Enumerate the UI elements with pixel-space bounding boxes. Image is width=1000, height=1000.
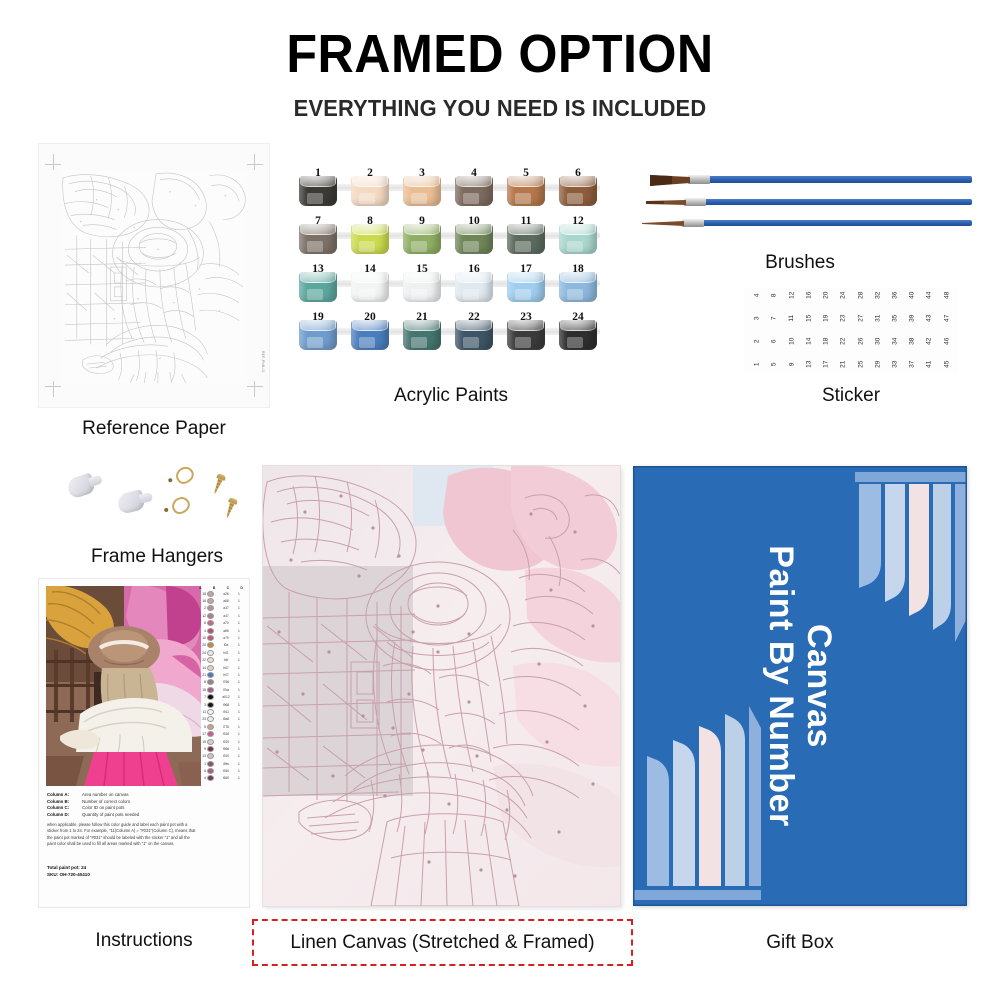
legend-color-swatch [207,709,214,715]
instructions-column-text: Color ID on paint pots [82,805,124,810]
legend-color-swatch [207,598,214,604]
paint-pot-number: 16 [452,263,496,275]
legend-color-swatch [207,672,214,678]
sticker-column: 16151413 [802,292,818,368]
sticker-column: 48474645 [939,292,955,368]
gift-box-title: Canvas Paint By Number [762,545,838,826]
legend-area-number: 12 [199,614,206,618]
legend-area-number: 6 [199,621,206,625]
paint-pot-8: 8 [348,213,392,257]
legend-quantity: 1 [238,776,243,780]
caption-gift-box: Gift Box [633,932,967,954]
legend-row: 8i7661 [198,679,244,686]
legend-color-id: i660 [215,776,237,780]
legend-row: 1i5fw1 [198,760,244,767]
legend-quantity: 1 [238,688,243,692]
legend-row: 9i9661 [198,745,244,752]
legend-quantity: 1 [238,621,243,625]
paint-pot-number: 1 [296,167,340,179]
legend-area-number: 4 [199,629,206,633]
legend-quantity: 1 [238,651,243,655]
legend-color-swatch [207,665,214,671]
legend-area-number: 8 [199,680,206,684]
sticker-number: 10 [789,338,796,345]
instructions-sheet-image: A B C D 18a26116a8812a37112a4716a7014a86… [38,578,250,908]
legend-area-number: 16 [199,599,206,603]
legend-quantity: 1 [238,725,243,729]
sticker-column: 1211109 [784,292,800,368]
legend-area-number: 23 [199,717,206,721]
legend-area-number: 5 [199,725,206,729]
paint-pot-number: 22 [452,311,496,323]
legend-quantity: 1 [238,614,243,618]
paint-pot-11: 11 [504,213,548,257]
legend-row: 6i9401 [198,767,244,774]
paint-pot-20: 20 [348,309,392,353]
legend-color-swatch [207,679,214,685]
legend-color-swatch [207,687,214,693]
legend-color-id: a86 [215,629,237,633]
sticker-number: 40 [910,292,917,299]
paint-pot-18: 18 [556,261,600,305]
legend-row: 10a791 [198,634,244,641]
paint-pot-number: 8 [348,215,392,227]
instructions-totals: Total paint pot: 24 SKU: OH-720-40410 [47,865,199,879]
legend-quantity: 1 [238,658,243,662]
total-paint-pot: Total paint pot: 24 [47,865,199,870]
legend-row: 16a881 [198,597,244,604]
legend-color-id: i968 [215,703,237,707]
sticker-number: 5 [772,363,779,367]
legend-color-id: a012 [215,695,237,699]
screw [211,473,227,495]
legend-color-id: h67 [215,666,237,670]
sticker-number: 33 [892,361,899,368]
paint-pot-number: 6 [556,167,600,179]
sticker-number: 43 [927,315,934,322]
paint-pot-row: 123456 [296,165,606,211]
legend-header-c: C [227,586,230,590]
caption-acrylic-paints: Acrylic Paints [296,385,606,407]
legend-area-number: 4 [199,776,206,780]
legend-quantity: 1 [238,599,243,603]
sticker-number: 11 [789,315,796,322]
legend-area-number: 14 [199,666,206,670]
legend-color-id: i966 [215,747,237,751]
gift-box-image: Canvas Paint By Number [633,466,967,906]
legend-row: 7a0121 [198,693,244,700]
instructions-preview-art [46,586,201,786]
sticker-number: 48 [944,292,951,299]
legend-row: 4i6601 [198,775,244,782]
legend-area-number: 9 [199,747,206,751]
caption-sticker: Sticker [744,385,958,407]
legend-header-b: B [213,586,216,590]
legend-row: 2a371 [198,605,244,612]
sticker-number: 6 [772,340,779,344]
legend-color-swatch [207,775,214,781]
sticker-number: 24 [841,292,848,299]
reference-paper-side-text: REF-PNB-01 [261,351,265,373]
paint-pot-number: 19 [296,311,340,323]
paint-pot-number: 7 [296,215,340,227]
legend-quantity: 1 [238,629,243,633]
paint-pot-4: 4 [452,165,496,209]
page-title: FRAMED OPTION [35,26,965,83]
legend-row: 18a261 [198,590,244,597]
sticker-column: 36353433 [888,292,904,368]
legend-color-id: i5a6 [215,717,237,721]
legend-quantity: 1 [238,703,243,707]
legend-area-number: 22 [199,658,206,662]
reference-paper-image: REF-PNB-01 [38,143,270,408]
legend-color-swatch [207,591,214,597]
legend-color-swatch [207,731,214,737]
brushes-image [632,168,972,238]
sticker-number: 17 [824,361,831,368]
sticker-column: 44434241 [922,292,938,368]
acrylic-paints-image: 123456789101112131415161718192021222324 [296,165,606,360]
sticker-number: 23 [841,315,848,322]
legend-color-swatch [207,724,214,730]
legend-color-id: a79 [215,636,237,640]
paint-pot-21: 21 [400,309,444,353]
legend-quantity: 1 [238,666,243,670]
sticker-number: 15 [806,315,813,322]
caption-reference-paper: Reference Paper [38,418,270,440]
legend-color-id: a47 [215,614,237,618]
legend-quantity: 1 [238,592,243,596]
sticker-number: 19 [824,315,831,322]
legend-area-number: 1 [199,762,206,766]
paint-pot-24: 24 [556,309,600,353]
legend-color-swatch [207,642,214,648]
legend-color-id: a26 [215,592,237,596]
framed-option-infographic: FRAMED OPTION EVERYTHING YOU NEED IS INC… [0,0,1000,1000]
legend-quantity: 1 [238,762,243,766]
legend-row: 4a861 [198,627,244,634]
paint-pot-3: 3 [400,165,444,209]
instructions-column-label: Column A: [47,792,77,797]
legend-quantity: 1 [238,717,243,721]
sticker-column: 20191817 [819,292,835,368]
wall-plug [116,489,146,515]
sticker-column: 8765 [767,292,783,368]
sticker-number: 25 [858,361,865,368]
legend-color-id: i7ba [215,688,237,692]
sticker-number: 20 [824,292,831,299]
legend-row: 23i5a61 [198,716,244,723]
legend-quantity: 1 [238,680,243,684]
sticker-number: 26 [858,338,865,345]
sticker-number: 18 [824,338,831,345]
sticker-number: 16 [806,292,813,299]
legend-color-swatch [207,761,214,767]
legend-color-swatch [207,635,214,641]
sticker-number: 42 [927,338,934,345]
legend-color-id: a70 [215,621,237,625]
d-ring-hanger [163,466,195,489]
paint-pot-number: 14 [348,263,392,275]
caption-instructions: Instructions [38,930,250,952]
paint-pot-15: 15 [400,261,444,305]
gift-box-line2: Paint By Number [762,545,800,826]
legend-color-swatch [207,739,214,745]
legend-color-id: i5fw [215,762,237,766]
legend-color-id: a37 [215,606,237,610]
legend-area-number: 13 [199,754,206,758]
legend-color-id: i919 [215,740,237,744]
legend-area-number: 21 [199,673,206,677]
legend-row: 5i7761 [198,723,244,730]
sticker-column: 28272625 [853,292,869,368]
legend-area-number: 2 [199,606,206,610]
paint-pot-number: 10 [452,215,496,227]
legend-area-number: 24 [199,651,206,655]
legend-color-id: i766 [215,680,237,684]
sticker-column: 24232221 [836,292,852,368]
paint-pot-13: 13 [296,261,340,305]
sticker-number: 28 [858,292,865,299]
legend-quantity: 1 [238,710,243,714]
paint-pot-number: 15 [400,263,444,275]
instructions-column-line: Column B:Number of correct colors [47,799,197,804]
legend-quantity: 1 [238,732,243,736]
instructions-column-label: Column B: [47,799,77,804]
paint-pot-number: 17 [504,263,548,275]
legend-color-swatch [207,620,214,626]
sticker-number: 39 [910,315,917,322]
sticker-number: 29 [875,361,882,368]
legend-area-number: 15 [199,688,206,692]
paint-pot-9: 9 [400,213,444,257]
reference-paper-lineart [61,170,247,383]
legend-area-number: 20 [199,643,206,647]
sticker-column: 4321 [750,292,766,368]
legend-color-swatch [207,746,214,752]
sticker-number: 44 [927,292,934,299]
sku: SKU: OH-720-40410 [47,872,199,877]
legend-color-swatch [207,702,214,708]
legend-quantity: 1 [238,606,243,610]
paint-pot-17: 17 [504,261,548,305]
sticker-sheet-image: 4321876512111091615141320191817242322212… [744,288,958,372]
legend-color-id: a88 [215,599,237,603]
sticker-number: 2 [755,340,762,344]
sticker-number: 38 [910,338,917,345]
paint-pot-row: 131415161718 [296,261,606,307]
legend-color-swatch [207,628,214,634]
instructions-column-key: Column A:Area number on canvasColumn B:N… [47,792,197,818]
legend-color-swatch [207,694,214,700]
paint-pot-7: 7 [296,213,340,257]
sticker-number: 8 [772,293,779,297]
legend-color-id: i776 [215,725,237,729]
paint-pot-row: 789101112 [296,213,606,259]
legend-color-id: i911 [215,710,237,714]
gift-box-line1: Canvas [800,624,838,748]
legend-quantity: 1 [238,740,243,744]
sticker-number: 27 [858,315,865,322]
legend-area-number: 3 [199,703,206,707]
paint-pot-5: 5 [504,165,548,209]
paint-pot-10: 10 [452,213,496,257]
legend-area-number: 18 [199,592,206,596]
sticker-number: 45 [944,361,951,368]
legend-color-id: h4f [215,658,237,662]
paint-pot-number: 9 [400,215,444,227]
paint-pot-number: 24 [556,311,600,323]
legend-quantity: 1 [238,754,243,758]
sticker-number: 12 [789,292,796,299]
legend-area-number: 19 [199,740,206,744]
legend-area-number: 17 [199,732,206,736]
legend-row: 19i9191 [198,738,244,745]
caption-frame-hangers: Frame Hangers [52,546,262,568]
caption-brushes: Brushes [700,252,900,274]
instructions-column-text: Number of correct colors [82,799,130,804]
legend-color-swatch [207,753,214,759]
instructions-color-legend: A B C D 18a26116a8812a37112a4716a7014a86… [198,586,244,816]
paint-pot-number: 2 [348,167,392,179]
paint-pot-number: 18 [556,263,600,275]
sticker-number: 34 [892,338,899,345]
legend-row: 24h011 [198,649,244,656]
legend-row: 6a701 [198,620,244,627]
paint-pot-number: 3 [400,167,444,179]
paint-pot-6: 6 [556,165,600,209]
legend-color-id: h01 [215,651,237,655]
legend-quantity: 1 [238,769,243,773]
legend-quantity: 1 [238,643,243,647]
paint-pot-12: 12 [556,213,600,257]
legend-row: 11i9111 [198,708,244,715]
legend-header-a: A [199,586,202,590]
sticker-number: 4 [755,293,762,297]
header: FRAMED OPTION EVERYTHING YOU NEED IS INC… [0,26,1000,122]
paint-pot-number: 20 [348,311,392,323]
legend-color-id: h07 [215,673,237,677]
instructions-column-line: Column C:Color ID on paint pots [47,805,197,810]
sticker-number: 41 [927,361,934,368]
paint-pot-22: 22 [452,309,496,353]
paint-pot-number: 4 [452,167,496,179]
legend-color-id: f0a [215,643,237,647]
instructions-column-label: Column C: [47,805,77,810]
d-ring-hanger [159,496,191,518]
legend-area-number: 11 [199,710,206,714]
legend-color-swatch [207,657,214,663]
sticker-number: 32 [875,292,882,299]
legend-quantity: 1 [238,695,243,699]
sticker-number: 46 [944,338,951,345]
sticker-number: 9 [789,363,796,367]
legend-row: 17i9181 [198,730,244,737]
sticker-number: 30 [875,338,882,345]
legend-area-number: 10 [199,636,206,640]
legend-row: 12a471 [198,612,244,619]
legend-quantity: 1 [238,673,243,677]
instructions-column-text: Area number on canvas [82,792,129,797]
sticker-number: 3 [755,317,762,321]
legend-row: 15i7ba1 [198,686,244,693]
legend-row: 3i9681 [198,701,244,708]
legend-row: 21h071 [198,671,244,678]
legend-quantity: 1 [238,636,243,640]
legend-row: 20f0a1 [198,642,244,649]
paint-pot-23: 23 [504,309,548,353]
legend-area-number: 7 [199,695,206,699]
instructions-paragraph: when applicable, please follow this colo… [47,822,199,847]
paint-pot-number: 23 [504,311,548,323]
paint-pot-row: 192021222324 [296,309,606,355]
paint-pot-19: 19 [296,309,340,353]
page-subtitle: EVERYTHING YOU NEED IS INCLUDED [25,95,975,122]
screw [223,497,238,519]
paint-pot-number: 13 [296,263,340,275]
paint-pot-14: 14 [348,261,392,305]
sticker-number: 22 [841,338,848,345]
instructions-column-text: Quantity of paint pots needed [82,812,139,817]
paint-pot-16: 16 [452,261,496,305]
linen-canvas-image [263,466,620,906]
legend-color-swatch [207,768,214,774]
legend-color-id: i910 [215,754,237,758]
paint-pot-number: 11 [504,215,548,227]
sticker-number: 21 [841,361,848,368]
legend-row: 14h671 [198,664,244,671]
paint-pot-number: 12 [556,215,600,227]
legend-color-swatch [207,650,214,656]
wall-plug [66,472,97,499]
sticker-column: 40393837 [905,292,921,368]
sticker-number: 13 [806,361,813,368]
instructions-column-line: Column D:Quantity of paint pots needed [47,812,197,817]
legend-color-swatch [207,605,214,611]
caption-linen-canvas: Linen Canvas (Stretched & Framed) [252,932,633,954]
sticker-number: 36 [892,292,899,299]
paint-pot-number: 21 [400,311,444,323]
legend-color-id: i918 [215,732,237,736]
sticker-number: 1 [755,363,762,367]
sticker-number: 47 [944,315,951,322]
paint-pot-2: 2 [348,165,392,209]
legend-area-number: 6 [199,769,206,773]
sticker-number: 14 [806,338,813,345]
sticker-number: 31 [875,315,882,322]
sticker-number: 7 [772,317,779,321]
instructions-column-line: Column A:Area number on canvas [47,792,197,797]
paint-pot-number: 5 [504,167,548,179]
legend-row: 22h4f1 [198,657,244,664]
legend-quantity: 1 [238,747,243,751]
legend-header-d: D [240,586,243,590]
sticker-number: 37 [910,361,917,368]
instructions-column-label: Column D: [47,812,77,817]
legend-color-swatch [207,613,214,619]
sticker-column: 32313029 [870,292,886,368]
frame-hangers-image [62,462,252,540]
legend-row: 13i9101 [198,753,244,760]
sticker-number: 35 [892,315,899,322]
legend-color-id: i940 [215,769,237,773]
legend-color-swatch [207,716,214,722]
paint-pot-1: 1 [296,165,340,209]
